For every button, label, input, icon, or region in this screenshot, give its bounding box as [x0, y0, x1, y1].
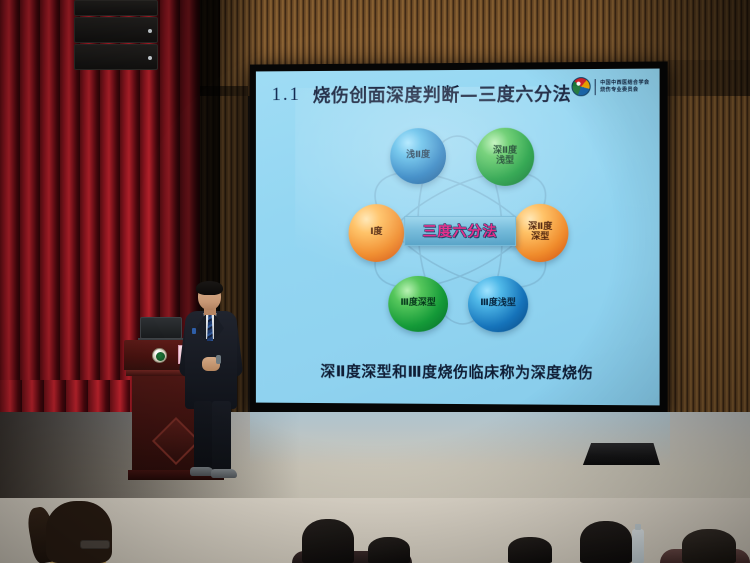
node-third-degree-deep: Ⅲ度深型 — [388, 276, 448, 332]
podium-emblem-icon — [152, 348, 167, 363]
presentation-remote — [216, 355, 221, 364]
organization-logo: 中国中西医结合学会 烧伤专业委员会 — [572, 77, 650, 97]
speaker-module-middle — [74, 17, 158, 43]
conference-photo-scene: 1.1 烧伤创面深度判断—三度六分法 中国中西医结合学会 烧伤专业委员会 — [0, 0, 750, 563]
node-label: 深Ⅱ度 深型 — [528, 223, 552, 243]
society-emblem-icon — [572, 77, 591, 96]
presenter-lapel-badge-icon — [192, 328, 196, 334]
logo-text-block: 中国中西医结合学会 烧伤专业委员会 — [600, 79, 649, 93]
center-banner: 三度六分法 — [404, 216, 516, 246]
audience-head — [508, 537, 552, 563]
speaker-module-top — [74, 0, 158, 16]
speaker-led-icon — [148, 29, 152, 33]
slide-surface: 1.1 烧伤创面深度判断—三度六分法 中国中西医结合学会 烧伤专业委员会 — [256, 69, 660, 406]
presenter-right-leg — [212, 401, 231, 471]
projection-screen: 1.1 烧伤创面深度判断—三度六分法 中国中西医结合学会 烧伤专业委员会 — [250, 61, 668, 415]
eyeglasses-icon — [80, 540, 110, 549]
node-label: Ⅰ度 — [370, 228, 382, 238]
presenter-hair — [196, 281, 223, 295]
speaker-module-bottom — [74, 44, 158, 70]
water-bottle — [632, 529, 644, 563]
audience-head — [682, 529, 736, 563]
node-label: Ⅲ度浅型 — [480, 299, 516, 309]
presenter-left-leg — [194, 401, 212, 471]
audience-hair — [46, 501, 112, 563]
presenter-right-shoe — [211, 469, 237, 478]
node-label: 深Ⅱ度 浅型 — [493, 147, 517, 167]
speaker-led-icon — [148, 56, 152, 60]
node-first-degree: Ⅰ度 — [349, 204, 405, 262]
node-third-degree-shallow: Ⅲ度浅型 — [468, 276, 528, 332]
audience-head — [580, 521, 632, 563]
stage-wedge-speaker — [578, 443, 660, 465]
slide-footer-text: 深Ⅱ度深型和Ⅲ度烧伤临床称为深度烧伤 — [256, 360, 660, 383]
slide-title: 烧伤创面深度判断—三度六分法 — [313, 80, 571, 108]
logo-line-2: 烧伤专业委员会 — [600, 87, 649, 94]
hanging-speaker-array — [74, 0, 158, 72]
slide-number: 1.1 — [272, 84, 301, 106]
presenter — [178, 283, 250, 483]
node-superficial-second-degree: 浅Ⅱ度 — [390, 128, 446, 184]
audience-member-woman — [28, 498, 132, 563]
node-label: 浅Ⅱ度 — [406, 151, 430, 161]
audience-head — [368, 537, 410, 563]
node-deep-second-degree-shallow: 深Ⅱ度 浅型 — [476, 128, 534, 186]
six-degree-diagram: 浅Ⅱ度 深Ⅱ度 浅型 深Ⅱ度 深型 Ⅲ度浅型 Ⅲ度深型 Ⅰ度 — [347, 127, 577, 338]
logo-line-1: 中国中西医结合学会 — [600, 79, 649, 86]
node-deep-second-degree-deep: 深Ⅱ度 深型 — [512, 204, 568, 262]
audience-head — [302, 519, 354, 563]
foreground-audience-row — [0, 498, 750, 563]
node-label: Ⅲ度深型 — [400, 299, 435, 309]
wood-slat-panel-right — [658, 60, 750, 412]
laptop-screen — [140, 317, 182, 339]
logo-divider — [595, 79, 596, 95]
center-banner-label: 三度六分法 — [423, 221, 498, 241]
